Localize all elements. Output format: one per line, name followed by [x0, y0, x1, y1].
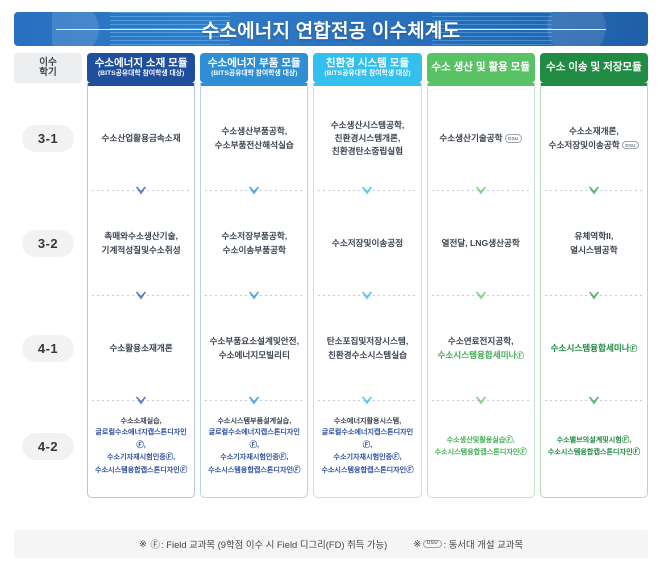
- course-item: 기계적성질및수소취성: [102, 244, 181, 257]
- course-cell[interactable]: 수소저장및이송공정: [314, 191, 420, 296]
- legend-field-course: ※ Ⓕ : Field 교과목 (9학점 이수 시 Field 디그리(FD) …: [139, 537, 387, 551]
- course-cell[interactable]: 수소생산시스템공학,친환경시스템개론,친환경탄소중립실험: [314, 86, 420, 191]
- column-header-subtitle: 학기: [39, 68, 56, 78]
- course-name: 수소에너지모빌리티: [219, 350, 290, 360]
- course-name: 기계적성질및수소취성: [102, 245, 181, 255]
- column-header-term[interactable]: 이수학기: [14, 53, 82, 83]
- course-item: 수소시스템융합캡스톤디자인Ⓕ: [317, 464, 417, 476]
- course-item: 촉매와수소생산기술,: [102, 230, 181, 243]
- course-name: 열전달, LNG생산공학: [442, 238, 520, 248]
- course-name: 친환경수소시스템실습: [328, 350, 407, 360]
- course-list: 수소저장및이송공정: [332, 237, 403, 250]
- course-list: 수소저장부품공학,수소이송부품공학: [221, 230, 287, 257]
- course-name: 글로컬수소에너지캡스톤디자인: [322, 428, 413, 436]
- course-item: 수소밸브의설계및시험Ⓕ,: [548, 434, 640, 446]
- course-cell[interactable]: 수소연료전지공학,수소시스템융합세미나Ⓕ: [428, 296, 534, 401]
- course-name: 수소생산부품공학,: [221, 126, 287, 136]
- course-name: 수소시스템융합세미나: [437, 350, 516, 360]
- course-name: 수소저장및이송공학: [549, 140, 620, 150]
- course-cell[interactable]: 수소소재개론,수소저장및이송공학DSU: [541, 86, 647, 191]
- course-item: 수소시스템융합캡스톤디자인Ⓕ: [91, 464, 191, 476]
- dsu-badge-icon: DSU: [622, 141, 640, 149]
- legend-dsu-asterisk: ※: [413, 538, 421, 550]
- legend-field-asterisk: ※: [139, 538, 147, 550]
- course-item: 열시스템공학: [570, 244, 617, 257]
- course-cell[interactable]: 수소생산부품공학,수소부품전산해석실습: [201, 86, 307, 191]
- course-name: 수소시스템부품설계실습,: [217, 417, 291, 425]
- dsu-badge-icon: DSU: [423, 540, 441, 549]
- term-label: 3-2: [22, 230, 74, 257]
- course-name: 수소시스템융합캡스톤디자인: [208, 466, 293, 474]
- course-separator: ,: [257, 441, 259, 449]
- course-item: 수소생산시스템공학,: [331, 119, 405, 132]
- course-item: 수소소재개론,: [549, 125, 640, 138]
- page-banner: 수소에너지 연합전공 이수체계도: [14, 12, 648, 46]
- column-header-subtitle: (BITS공유대학 참여학생 대상): [211, 70, 297, 77]
- course-item: 친환경시스템개론,: [331, 132, 405, 145]
- course-cell[interactable]: 수소저장부품공학,수소이송부품공학: [201, 191, 307, 296]
- field-mark-icon: Ⓕ: [180, 465, 187, 474]
- column-header-title: 수소 생산 및 활용 모듈: [431, 62, 530, 73]
- course-item: 수소산업활용금속소재: [102, 132, 181, 145]
- field-mark-icon: Ⓕ: [250, 440, 257, 449]
- course-list: 유체역학II,열시스템공학: [570, 230, 617, 257]
- course-item: 수소에너지모빌리티: [210, 349, 299, 362]
- module-column-module-transport: 수소소재개론,수소저장및이송공학DSU유체역학II,열시스템공학수소시스템융합세…: [540, 83, 648, 498]
- legend-footer: ※ Ⓕ : Field 교과목 (9학점 이수 시 Field 디그리(FD) …: [14, 530, 648, 558]
- course-item: 수소활용소재개론: [109, 342, 172, 355]
- field-mark-icon: Ⓕ: [519, 447, 526, 456]
- course-list: 열전달, LNG생산공학: [442, 237, 520, 250]
- course-name: 수소기자재시험인증: [220, 453, 279, 461]
- course-item: 수소시스템융합캡스톤디자인Ⓕ: [548, 446, 640, 458]
- term-label: 4-1: [22, 335, 74, 362]
- course-item: 수소부품전산해석실습: [215, 139, 294, 152]
- course-cell[interactable]: 수소생산기술공학DSU: [428, 86, 534, 191]
- course-item: 수소저장부품공학,: [221, 230, 287, 243]
- column-header-module-production[interactable]: 수소 생산 및 활용 모듈: [427, 53, 535, 83]
- term-column: 3-13-24-14-2: [14, 83, 82, 498]
- course-list: 수소산업활용금속소재: [102, 132, 181, 145]
- column-header-module-eco-system[interactable]: 친환경 시스템 모듈(BITS공유대학 참여학생 대상): [313, 53, 421, 83]
- course-separator: ,: [400, 453, 402, 461]
- course-item: 수소저장및이송공학DSU: [549, 139, 640, 152]
- course-list: 수소밸브의설계및시험Ⓕ,수소시스템융합캡스톤디자인Ⓕ: [548, 434, 640, 459]
- course-list: 수소활용소재개론: [109, 342, 172, 355]
- course-name: 수소저장및이송공정: [332, 238, 403, 248]
- legend-field-text: : Field 교과목 (9학점 이수 시 Field 디그리(FD) 취득 가…: [161, 537, 387, 551]
- course-item: 수소생산및활용실습Ⓕ,: [435, 434, 527, 446]
- course-list: 수소생산부품공학,수소부품전산해석실습: [215, 125, 294, 152]
- course-name: 수소소재개론,: [569, 126, 619, 136]
- course-cell[interactable]: 수소부품요소설계및안전,수소에너지모빌리티: [201, 296, 307, 401]
- curriculum-page: 수소에너지 연합전공 이수체계도 이수학기수소에너지 소재 모듈(BITS공유대…: [0, 12, 662, 568]
- course-item: 글로컬수소에너지캡스톤디자인Ⓕ,: [317, 427, 417, 451]
- course-item: 수소저장및이송공정: [332, 237, 403, 250]
- column-header-title: 수소에너지 소재 모듈: [95, 58, 188, 69]
- course-cell[interactable]: 탄소포집및저장시스템,친환경수소시스템실습: [314, 296, 420, 401]
- module-column-module-eco-system: 수소생산시스템공학,친환경시스템개론,친환경탄소중립실험수소저장및이송공정탄소포…: [313, 83, 421, 498]
- course-list: 수소부품요소설계및안전,수소에너지모빌리티: [210, 335, 299, 362]
- course-name: 수소활용소재개론: [109, 343, 172, 353]
- course-item: 수소기자재시험인증Ⓕ,: [317, 451, 417, 463]
- course-item: 글로컬수소에너지캡스톤디자인Ⓕ,: [91, 427, 191, 451]
- course-list: 수소소재실습,글로컬수소에너지캡스톤디자인Ⓕ,수소기자재시험인증Ⓕ,수소시스템융…: [91, 416, 191, 476]
- course-cell[interactable]: 수소생산및활용실습Ⓕ,수소시스템융합캡스톤디자인Ⓕ: [428, 401, 534, 491]
- term-cell: 3-2: [14, 191, 82, 296]
- field-mark-icon: Ⓕ: [293, 465, 300, 474]
- field-mark-icon: Ⓕ: [517, 351, 524, 360]
- legend-dsu-course: ※ DSU : 동서대 개설 교과목: [413, 537, 523, 551]
- course-name: 열시스템공학: [570, 245, 617, 255]
- course-item: 수소에너지활용시스템,: [317, 416, 417, 427]
- course-name: 수소생산시스템공학,: [331, 120, 405, 130]
- course-item: 수소생산부품공학,: [215, 125, 294, 138]
- course-name: 수소저장부품공학,: [221, 231, 287, 241]
- term-cell: 4-1: [14, 296, 82, 401]
- course-item: 수소생산기술공학DSU: [439, 132, 522, 145]
- course-list: 수소소재개론,수소저장및이송공학DSU: [549, 125, 640, 152]
- course-name: 친환경탄소중립실험: [332, 146, 403, 156]
- term-label: 3-1: [22, 125, 74, 152]
- course-item: 수소기자재시험인증Ⓕ,: [91, 451, 191, 463]
- column-header-module-transport[interactable]: 수소 이송 및 저장모듈: [540, 53, 648, 83]
- course-name: 탄소포집및저장시스템,: [327, 336, 408, 346]
- course-name: 수소에너지활용시스템,: [334, 417, 401, 425]
- course-name: 친환경시스템개론,: [335, 133, 401, 143]
- field-mark-icon: Ⓕ: [406, 465, 413, 474]
- banner-rule-left: [56, 29, 206, 30]
- course-list: 수소생산시스템공학,친환경시스템개론,친환경탄소중립실험: [331, 119, 405, 159]
- field-mark-icon: Ⓕ: [392, 452, 399, 461]
- course-item: 글로컬수소에너지캡스톤디자인Ⓕ,: [204, 427, 304, 451]
- course-item: 수소연료전지공학,: [437, 335, 523, 348]
- course-list: 수소에너지활용시스템,글로컬수소에너지캡스톤디자인Ⓕ,수소기자재시험인증Ⓕ,수소…: [317, 416, 417, 476]
- course-separator: ,: [513, 436, 515, 444]
- course-cell[interactable]: 수소활용소재개론: [88, 296, 194, 401]
- column-header-row: 이수학기수소에너지 소재 모듈(BITS공유대학 참여학생 대상)수소에너지 부…: [14, 53, 648, 83]
- term-cell: 3-1: [14, 86, 82, 191]
- course-cell[interactable]: 촉매와수소생산기술,기계적성질및수소취성: [88, 191, 194, 296]
- column-header-subtitle: (BITS공유대학 참여학생 대상): [324, 70, 410, 77]
- course-list: 촉매와수소생산기술,기계적성질및수소취성: [102, 230, 181, 257]
- term-label: 4-2: [22, 433, 74, 460]
- course-name: 글로컬수소에너지캡스톤디자인: [209, 428, 300, 436]
- module-column-module-production: 수소생산기술공학DSU열전달, LNG생산공학수소연료전지공학,수소시스템융합세…: [427, 83, 535, 498]
- course-item: 수소시스템융합세미나Ⓕ: [437, 349, 523, 362]
- course-name: 유체역학II,: [574, 231, 613, 241]
- course-name: 수소기자재시험인증: [333, 453, 392, 461]
- course-separator: ,: [370, 441, 372, 449]
- course-list: 수소시스템부품설계실습,글로컬수소에너지캡스톤디자인Ⓕ,수소기자재시험인증Ⓕ,수…: [204, 416, 304, 476]
- column-header-module-parts[interactable]: 수소에너지 부품 모듈(BITS공유대학 참여학생 대상): [200, 53, 308, 83]
- curriculum-grid: 3-13-24-14-2수소산업활용금속소재촉매와수소생산기술,기계적성질및수소…: [14, 83, 648, 498]
- course-name: 수소연료전지공학,: [448, 336, 514, 346]
- course-name: 수소시스템융합세미나: [551, 343, 630, 353]
- field-mark-icon: Ⓕ: [136, 440, 143, 449]
- field-mark-icon: Ⓕ: [505, 435, 512, 444]
- column-header-title: 수소에너지 부품 모듈: [208, 58, 301, 69]
- module-column-module-parts: 수소생산부품공학,수소부품전산해석실습수소저장부품공학,수소이송부품공학수소부품…: [200, 83, 308, 498]
- module-column-module-materials: 수소산업활용금속소재촉매와수소생산기술,기계적성질및수소취성수소활용소재개론수소…: [87, 83, 195, 498]
- course-cell[interactable]: 열전달, LNG생산공학: [428, 191, 534, 296]
- course-cell[interactable]: 유체역학II,열시스템공학: [541, 191, 647, 296]
- course-item: 수소시스템부품설계실습,: [204, 416, 304, 427]
- term-cell: 4-2: [14, 401, 82, 491]
- column-header-subtitle: (BITS공유대학 참여학생 대상): [98, 70, 184, 77]
- course-item: 친환경수소시스템실습: [327, 349, 408, 362]
- course-list: 수소생산기술공학DSU: [439, 132, 522, 145]
- banner-rule-right: [456, 29, 606, 30]
- course-name: 수소부품전산해석실습: [215, 140, 294, 150]
- course-name: 수소시스템융합캡스톤디자인: [435, 448, 520, 456]
- course-list: 탄소포집및저장시스템,친환경수소시스템실습: [327, 335, 408, 362]
- course-item: 친환경탄소중립실험: [331, 145, 405, 158]
- course-item: 탄소포집및저장시스템,: [327, 335, 408, 348]
- course-cell[interactable]: 수소에너지활용시스템,글로컬수소에너지캡스톤디자인Ⓕ,수소기자재시험인증Ⓕ,수소…: [314, 401, 420, 491]
- course-separator: ,: [286, 453, 288, 461]
- field-mark-icon: Ⓕ: [633, 447, 640, 456]
- course-item: 유체역학II,: [570, 230, 617, 243]
- course-list: 수소생산및활용실습Ⓕ,수소시스템융합캡스톤디자인Ⓕ: [435, 434, 527, 459]
- column-header-module-materials[interactable]: 수소에너지 소재 모듈(BITS공유대학 참여학생 대상): [87, 53, 195, 83]
- course-cell[interactable]: 수소소재실습,글로컬수소에너지캡스톤디자인Ⓕ,수소기자재시험인증Ⓕ,수소시스템융…: [88, 401, 194, 491]
- course-name: 수소기자재시험인증: [107, 453, 166, 461]
- dsu-badge-icon: DSU: [505, 134, 523, 142]
- course-name: 수소소재실습,: [121, 417, 162, 425]
- course-list: 수소시스템융합세미나Ⓕ: [551, 342, 637, 355]
- legend-dsu-text: : 동서대 개설 교과목: [444, 537, 523, 551]
- course-name: 수소시스템융합캡스톤디자인: [95, 466, 180, 474]
- course-cell[interactable]: 수소시스템부품설계실습,글로컬수소에너지캡스톤디자인Ⓕ,수소기자재시험인증Ⓕ,수…: [201, 401, 307, 491]
- course-separator: ,: [144, 441, 146, 449]
- column-header-title: 수소 이송 및 저장모듈: [546, 62, 642, 73]
- course-item: 열전달, LNG생산공학: [442, 237, 520, 250]
- course-name: 수소부품요소설계및안전,: [210, 336, 299, 346]
- course-item: 수소시스템융합캡스톤디자인Ⓕ: [435, 446, 527, 458]
- course-name: 수소산업활용금속소재: [102, 133, 181, 143]
- course-cell[interactable]: 수소밸브의설계및시험Ⓕ,수소시스템융합캡스톤디자인Ⓕ: [541, 401, 647, 491]
- course-cell[interactable]: 수소산업활용금속소재: [88, 86, 194, 191]
- course-item: 수소소재실습,: [91, 416, 191, 427]
- page-title: 수소에너지 연합전공 이수체계도: [188, 16, 474, 43]
- course-name: 수소이송부품공학: [223, 245, 286, 255]
- field-mark-icon: Ⓕ: [630, 344, 637, 353]
- course-list: 수소연료전지공학,수소시스템융합세미나Ⓕ: [437, 335, 523, 362]
- course-name: 수소생산기술공학: [439, 133, 502, 143]
- course-item: 수소시스템융합캡스톤디자인Ⓕ: [204, 464, 304, 476]
- course-separator: ,: [173, 453, 175, 461]
- course-item: 수소부품요소설계및안전,: [210, 335, 299, 348]
- course-item: 수소기자재시험인증Ⓕ,: [204, 451, 304, 463]
- column-header-title: 친환경 시스템 모듈: [326, 58, 409, 69]
- course-item: 수소시스템융합세미나Ⓕ: [551, 342, 637, 355]
- course-name: 글로컬수소에너지캡스톤디자인: [95, 428, 186, 436]
- course-name: 수소밸브의설계및시험: [557, 436, 622, 444]
- course-name: 수소생산및활용실습: [447, 436, 506, 444]
- course-cell[interactable]: 수소시스템융합세미나Ⓕ: [541, 296, 647, 401]
- field-mark-icon: Ⓕ: [148, 537, 160, 551]
- course-name: 수소시스템융합캡스톤디자인: [321, 466, 406, 474]
- course-name: 촉매와수소생산기술,: [104, 231, 178, 241]
- course-separator: ,: [629, 436, 631, 444]
- course-name: 수소시스템융합캡스톤디자인: [548, 448, 633, 456]
- course-item: 수소이송부품공학: [221, 244, 287, 257]
